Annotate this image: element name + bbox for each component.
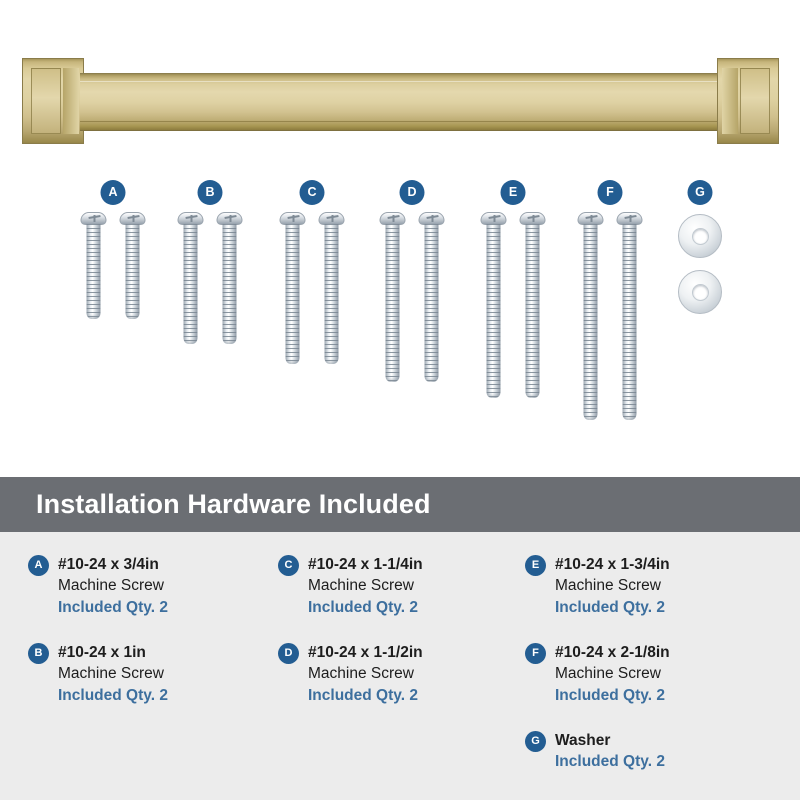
legend-included-qty: Included Qty. 2 [308,597,528,619]
machine-screw-icon [120,212,146,319]
screw-threaded-shank [487,224,501,398]
hardware-badge-a: A [101,180,126,205]
legend-badge-a: A [28,555,49,576]
hardware-row: ABCDEFG [0,180,800,440]
appliance-pull-bar [22,58,779,144]
legend-badge-c: C [278,555,299,576]
machine-screw-icon [481,212,507,398]
washer-icon [678,214,722,258]
machine-screw-icon [280,212,306,364]
legend-part-type: Machine Screw [58,663,278,685]
machine-screw-icon [520,212,546,398]
legend-item-b: B#10-24 x 1inMachine ScrewIncluded Qty. … [28,642,278,707]
pull-bar-shaft [80,73,721,131]
legend-columns: A#10-24 x 3/4inMachine ScrewIncluded Qty… [0,532,800,800]
legend-badge-f: F [525,643,546,664]
machine-screw-icon [178,212,204,344]
legend-item-f: F#10-24 x 2-1/8inMachine ScrewIncluded Q… [525,642,790,707]
hardware-badge-c: C [300,180,325,205]
screw-threaded-shank [425,224,439,382]
legend-part-spec: #10-24 x 1in [58,642,278,663]
legend-part-spec: #10-24 x 2-1/8in [555,642,790,663]
pull-bar-end-cap-left [22,58,84,144]
screw-threaded-shank [584,224,598,420]
screw-threaded-shank [126,224,140,319]
hardware-badge-f: F [598,180,623,205]
machine-screw-icon [419,212,445,382]
legend-part-spec: #10-24 x 3/4in [58,554,278,575]
end-cap-bevel [722,68,738,134]
machine-screw-icon [578,212,604,420]
legend-included-qty: Included Qty. 2 [555,751,790,773]
legend-part-spec: #10-24 x 1-1/4in [308,554,528,575]
legend-badge-e: E [525,555,546,576]
hardware-badge-e: E [501,180,526,205]
panel-title: Installation Hardware Included [36,489,431,520]
end-cap-inner-panel [31,68,61,134]
legend-included-qty: Included Qty. 2 [58,597,278,619]
machine-screw-icon [380,212,406,382]
legend-badge-g: G [525,731,546,752]
screw-threaded-shank [286,224,300,364]
screw-pair [481,212,546,398]
screw-pair [380,212,445,382]
legend-part-spec: #10-24 x 1-3/4in [555,554,790,575]
hardware-badge-b: B [198,180,223,205]
pull-bar-end-cap-right [717,58,779,144]
screw-threaded-shank [526,224,540,398]
legend-part-type: Machine Screw [58,575,278,597]
washer-hole [692,228,709,245]
screw-pair [178,212,243,344]
washer-stack [678,214,722,326]
screw-threaded-shank [223,224,237,344]
end-cap-bevel [63,68,79,134]
legend-item-d: D#10-24 x 1-1/2inMachine ScrewIncluded Q… [278,642,528,707]
machine-screw-icon [319,212,345,364]
legend-badge-d: D [278,643,299,664]
product-image-area: ABCDEFG [0,0,800,477]
screw-threaded-shank [184,224,198,344]
machine-screw-icon [617,212,643,420]
screw-pair [578,212,643,420]
legend-included-qty: Included Qty. 2 [308,685,528,707]
machine-screw-icon [81,212,107,319]
legend-column-1: A#10-24 x 3/4inMachine ScrewIncluded Qty… [28,554,278,730]
legend-badge-b: B [28,643,49,664]
end-cap-inner-panel [740,68,770,134]
screw-threaded-shank [386,224,400,382]
legend-part-spec: Washer [555,730,790,751]
legend-part-type: Machine Screw [555,575,790,597]
legend-column-2: C#10-24 x 1-1/4inMachine ScrewIncluded Q… [278,554,528,730]
hardware-badge-d: D [400,180,425,205]
legend-included-qty: Included Qty. 2 [555,685,790,707]
screw-threaded-shank [87,224,101,319]
installation-hardware-panel: Installation Hardware Included A#10-24 x… [0,477,800,800]
hardware-badge-g: G [688,180,713,205]
legend-part-type: Machine Screw [555,663,790,685]
legend-column-3: E#10-24 x 1-3/4inMachine ScrewIncluded Q… [525,554,790,796]
legend-item-g: GWasherIncluded Qty. 2 [525,730,790,773]
washer-icon [678,270,722,314]
legend-item-a: A#10-24 x 3/4inMachine ScrewIncluded Qty… [28,554,278,619]
legend-item-e: E#10-24 x 1-3/4inMachine ScrewIncluded Q… [525,554,790,619]
screw-pair [81,212,146,319]
screw-threaded-shank [325,224,339,364]
legend-part-spec: #10-24 x 1-1/2in [308,642,528,663]
machine-screw-icon [217,212,243,344]
legend-included-qty: Included Qty. 2 [58,685,278,707]
washer-hole [692,284,709,301]
panel-header: Installation Hardware Included [0,477,800,532]
screw-pair [280,212,345,364]
legend-item-c: C#10-24 x 1-1/4inMachine ScrewIncluded Q… [278,554,528,619]
legend-included-qty: Included Qty. 2 [555,597,790,619]
screw-threaded-shank [623,224,637,420]
legend-part-type: Machine Screw [308,663,528,685]
legend-part-type: Machine Screw [308,575,528,597]
